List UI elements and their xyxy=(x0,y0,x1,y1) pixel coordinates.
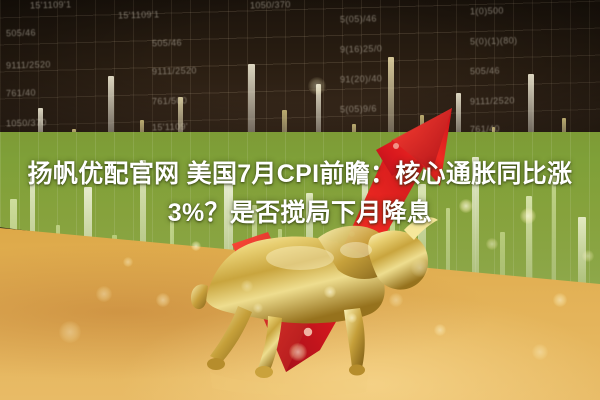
headline-text: 扬帆优配官网 美国7月CPI前瞻：核心通胀同比涨 3%？是否搅局下月降息 xyxy=(0,155,600,233)
news-cover-image: 505/469111/2520761/401050/37015'1109'150… xyxy=(0,0,600,400)
